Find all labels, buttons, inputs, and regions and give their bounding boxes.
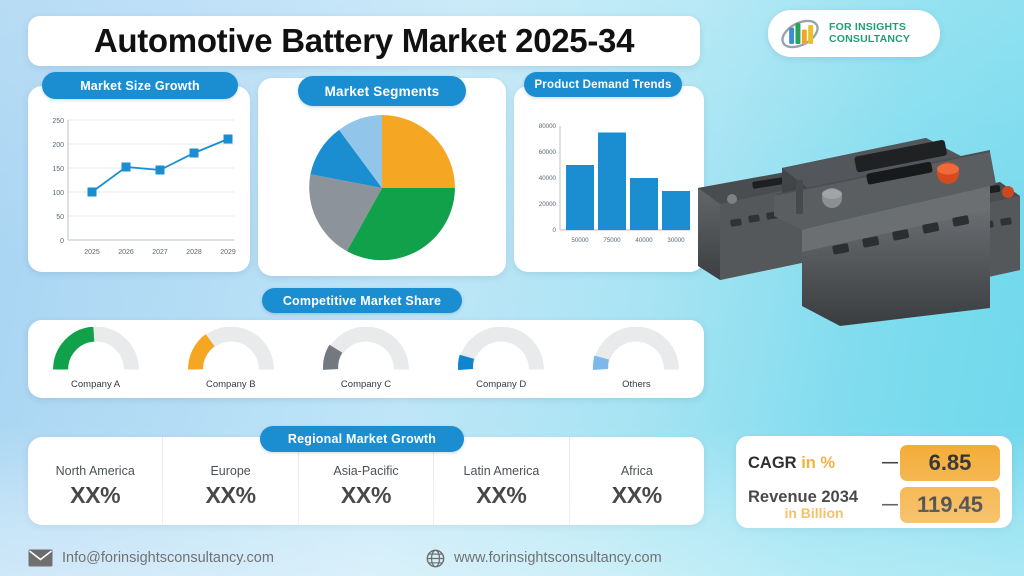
svg-text:40000: 40000 bbox=[635, 237, 653, 244]
kpi-row-revenue: Revenue 2034 in Billion — 119.45 bbox=[748, 486, 1000, 524]
gauge-item-company-b: Company B bbox=[163, 327, 298, 390]
region-name: Europe bbox=[210, 464, 250, 478]
panel-title-competitive-share: Competitive Market Share bbox=[262, 288, 462, 313]
svg-text:50000: 50000 bbox=[571, 237, 589, 244]
gauge-item-company-c: Company C bbox=[298, 327, 433, 390]
bar-4 bbox=[662, 191, 690, 230]
gauge-company-a bbox=[50, 327, 142, 373]
gauge-item-company-d: Company D bbox=[434, 327, 569, 390]
gauge-row: Company A Company B Company C bbox=[28, 320, 704, 398]
footer-website-text: www.forinsightsconsultancy.com bbox=[454, 550, 662, 566]
battery-product-image bbox=[690, 120, 1024, 330]
battery-center bbox=[774, 138, 996, 326]
region-name: Latin America bbox=[464, 464, 540, 478]
region-name: Asia-Pacific bbox=[333, 464, 398, 478]
bar-chart-bars bbox=[566, 133, 690, 231]
region-value: XX% bbox=[612, 482, 662, 509]
kpi-revenue-unit: in Billion bbox=[748, 506, 880, 521]
svg-text:60000: 60000 bbox=[539, 149, 557, 156]
svg-text:2025: 2025 bbox=[84, 249, 100, 256]
gauge-label: Company D bbox=[476, 379, 526, 390]
line-chart-gridlines bbox=[68, 120, 234, 240]
product-demand-card: 80000 60000 40000 20000 0 50000 75000 40… bbox=[514, 86, 704, 272]
svg-text:0: 0 bbox=[60, 238, 64, 245]
kpi-revenue-labels: Revenue 2034 in Billion bbox=[748, 488, 880, 522]
kpi-dash-revenue: — bbox=[880, 496, 900, 514]
svg-text:80000: 80000 bbox=[539, 123, 557, 130]
bar-2 bbox=[598, 133, 626, 231]
svg-text:2027: 2027 bbox=[152, 249, 168, 256]
kpi-row-cagr: CAGR in % — 6.85 bbox=[748, 444, 1000, 482]
line-chart: 250 200 150 100 50 0 2025 2026 2027 2028 bbox=[34, 112, 244, 264]
page-title: Automotive Battery Market 2025-34 bbox=[28, 16, 700, 66]
footer-website[interactable]: www.forinsightsconsultancy.com bbox=[426, 549, 662, 568]
panel-title-market-size: Market Size Growth bbox=[42, 72, 238, 99]
market-segments-card bbox=[258, 78, 506, 276]
gauge-others bbox=[590, 327, 682, 373]
kpi-cagr-text: CAGR bbox=[748, 454, 797, 472]
svg-text:150: 150 bbox=[52, 166, 64, 173]
bar-3 bbox=[630, 178, 658, 230]
bar-chart-ytick-labels: 80000 60000 40000 20000 0 bbox=[539, 123, 557, 234]
bar-chart-xtick-labels: 50000 75000 40000 30000 bbox=[571, 237, 685, 244]
kpi-dash-cagr: — bbox=[880, 454, 900, 472]
region-name: Africa bbox=[621, 464, 653, 478]
gauge-company-d bbox=[455, 327, 547, 373]
logo-chart-icon bbox=[778, 15, 822, 53]
logo-text: FOR INSIGHTS CONSULTANCY bbox=[829, 22, 910, 46]
svg-text:200: 200 bbox=[52, 142, 64, 149]
region-name: North America bbox=[56, 464, 135, 478]
gauge-item-others: Others bbox=[569, 327, 704, 390]
region-cell-africa: Africa XX% bbox=[570, 437, 704, 525]
region-value: XX% bbox=[205, 482, 255, 509]
gauge-label: Company A bbox=[71, 379, 120, 390]
title-card: Automotive Battery Market 2025-34 bbox=[28, 16, 700, 66]
bar-chart: 80000 60000 40000 20000 0 50000 75000 40… bbox=[518, 112, 700, 264]
svg-text:2028: 2028 bbox=[186, 249, 202, 256]
svg-text:2026: 2026 bbox=[118, 249, 134, 256]
region-value: XX% bbox=[476, 482, 526, 509]
gauge-item-company-a: Company A bbox=[28, 327, 163, 390]
kpi-revenue-label: Revenue 2034 bbox=[748, 488, 880, 506]
svg-text:100: 100 bbox=[52, 190, 64, 197]
line-chart-xtick-labels: 2025 2026 2027 2028 2029 bbox=[84, 249, 236, 256]
logo-line-2: CONSULTANCY bbox=[829, 34, 910, 46]
pie-chart-wrap bbox=[306, 112, 458, 264]
gauge-company-b bbox=[185, 327, 277, 373]
region-value: XX% bbox=[70, 482, 120, 509]
battery-illustration bbox=[690, 120, 1024, 330]
kpi-cagr-labels: CAGR in % bbox=[748, 454, 880, 472]
line-chart-ytick-labels: 250 200 150 100 50 0 bbox=[52, 118, 64, 245]
kpi-cagr-unit: in % bbox=[801, 454, 835, 472]
svg-text:40000: 40000 bbox=[539, 175, 557, 182]
logo-line-1: FOR INSIGHTS bbox=[829, 22, 910, 34]
svg-text:30000: 30000 bbox=[667, 237, 685, 244]
svg-text:50: 50 bbox=[56, 214, 64, 221]
gauge-company-c bbox=[320, 327, 412, 373]
competitive-share-card: Company A Company B Company C bbox=[28, 320, 704, 398]
gauge-label: Company B bbox=[206, 379, 256, 390]
footer: Info@forinsightsconsultancy.com www.fori… bbox=[28, 545, 728, 571]
gauge-label: Company C bbox=[341, 379, 391, 390]
globe-icon bbox=[426, 549, 445, 568]
bar-1 bbox=[566, 165, 594, 230]
pie-chart bbox=[306, 112, 458, 264]
svg-text:0: 0 bbox=[553, 227, 557, 234]
svg-text:250: 250 bbox=[52, 118, 64, 125]
region-cell-north-america: North America XX% bbox=[28, 437, 163, 525]
footer-email-text: Info@forinsightsconsultancy.com bbox=[62, 550, 274, 566]
pie-slice-1 bbox=[382, 115, 455, 188]
gauge-label: Others bbox=[622, 379, 651, 390]
panel-title-market-segments: Market Segments bbox=[298, 76, 466, 106]
svg-text:20000: 20000 bbox=[539, 201, 557, 208]
svg-text:75000: 75000 bbox=[603, 237, 621, 244]
envelope-icon bbox=[28, 549, 53, 567]
panel-title-product-demand: Product Demand Trends bbox=[524, 72, 682, 97]
brand-logo: FOR INSIGHTS CONSULTANCY bbox=[768, 10, 940, 57]
kpi-revenue-value: 119.45 bbox=[900, 487, 1000, 523]
kpi-cagr-label: CAGR in % bbox=[748, 454, 880, 472]
market-size-card: 250 200 150 100 50 0 2025 2026 2027 2028 bbox=[28, 86, 250, 272]
footer-email[interactable]: Info@forinsightsconsultancy.com bbox=[28, 549, 298, 567]
kpi-cagr-value: 6.85 bbox=[900, 445, 1000, 481]
panel-title-regional-growth: Regional Market Growth bbox=[260, 426, 464, 452]
kpi-card: CAGR in % — 6.85 Revenue 2034 in Billion… bbox=[736, 436, 1012, 528]
infographic-poster: Automotive Battery Market 2025-34 FOR IN… bbox=[0, 0, 1024, 576]
region-value: XX% bbox=[341, 482, 391, 509]
svg-text:2029: 2029 bbox=[220, 249, 236, 256]
